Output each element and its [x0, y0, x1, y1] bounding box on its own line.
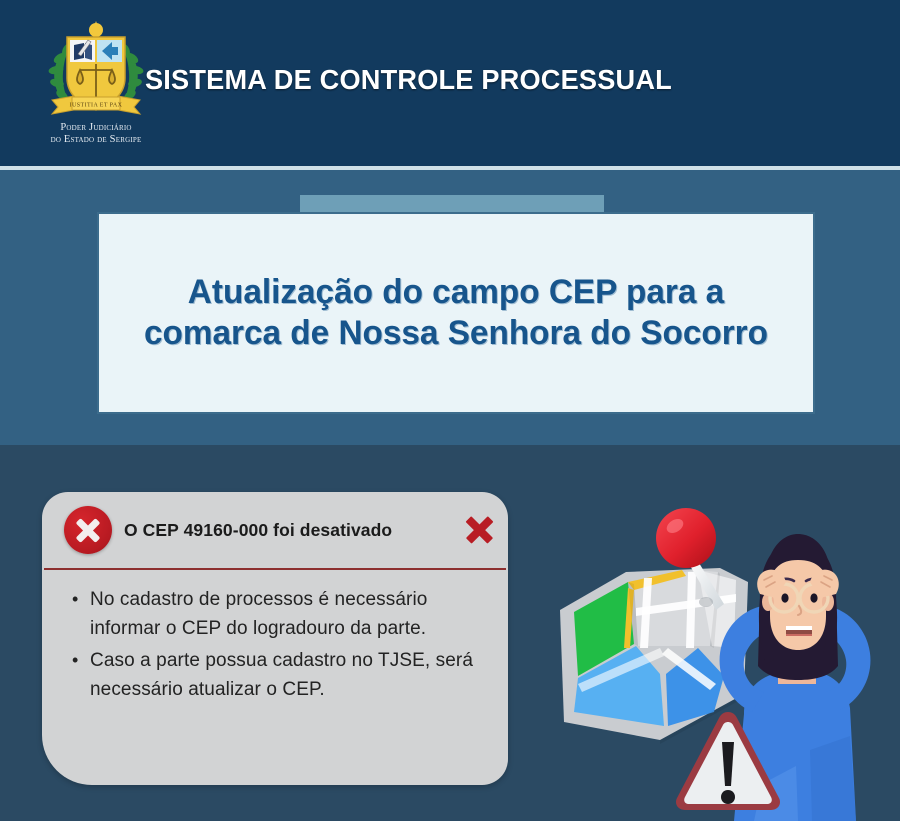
page-title: SISTEMA DE CONTROLE PROCESSUAL [145, 64, 672, 96]
brand-caption: Poder Judiciário do Estado de Sergipe [34, 122, 158, 146]
alert-header: O CEP 49160-000 foi desativado [42, 492, 508, 568]
list-item: No cadastro de processos é necessário in… [90, 586, 482, 643]
title-card: Atualização do campo CEP para a comarca … [97, 212, 815, 414]
brand-logo: IUSTITIA ET PAX Poder Judiciário do Esta… [34, 18, 158, 150]
alert-card: O CEP 49160-000 foi desativado No cadast… [42, 492, 508, 785]
red-x-icon [464, 515, 494, 545]
confused-woman-with-map-and-warning-illustration [548, 498, 900, 821]
svg-text:IUSTITIA ET PAX: IUSTITIA ET PAX [70, 103, 123, 109]
alert-body: No cadastro de processos é necessário in… [42, 570, 508, 704]
error-circle-x-icon [64, 506, 112, 554]
poster-canvas: IUSTITIA ET PAX Poder Judiciário do Esta… [0, 0, 900, 821]
list-item: Caso a parte possua cadastro no TJSE, se… [90, 647, 482, 704]
title-card-heading: Atualização do campo CEP para a comarca … [142, 272, 769, 354]
tjse-coat-of-arms-icon: IUSTITIA ET PAX [34, 18, 158, 122]
alert-title: O CEP 49160-000 foi desativado [112, 520, 464, 541]
alert-bullet-list: No cadastro de processos é necessário in… [68, 586, 482, 704]
